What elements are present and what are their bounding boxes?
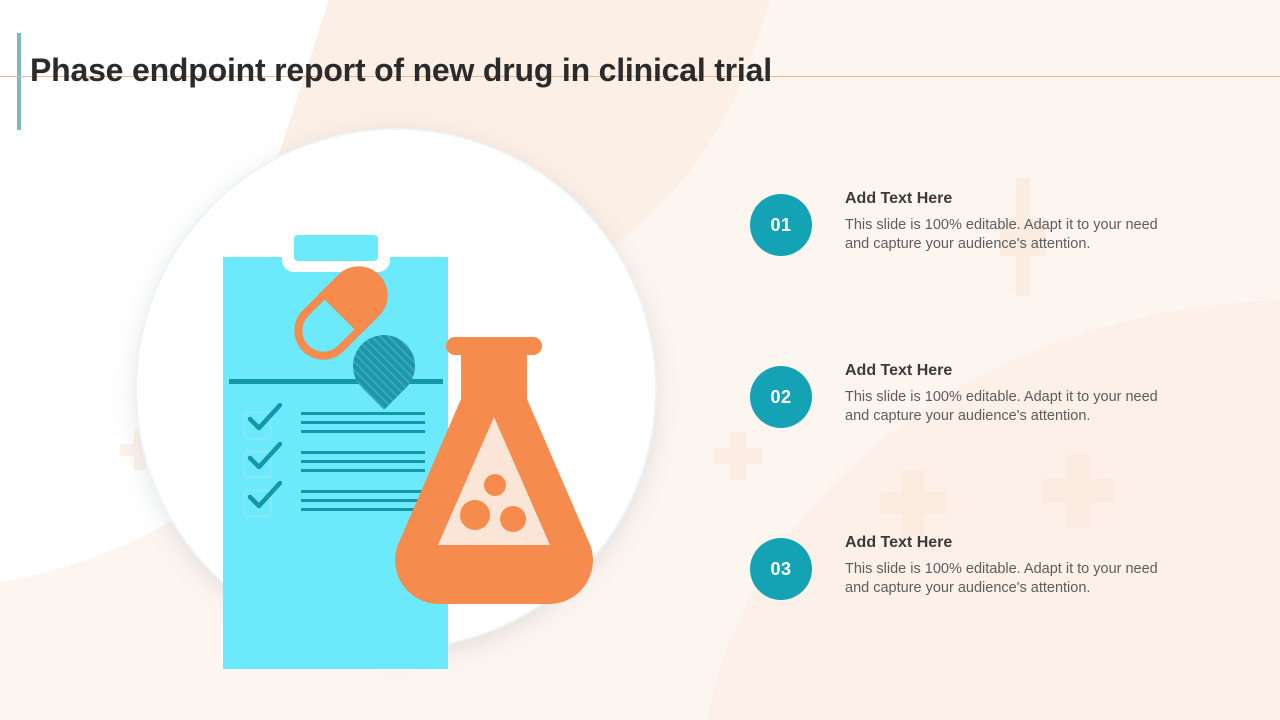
clipboard-clip-tab xyxy=(294,235,378,261)
list-item[interactable]: 02 Add Text Here This slide is 100% edit… xyxy=(750,354,1250,526)
check-mark-icon xyxy=(248,481,282,511)
list-item-text: Add Text Here This slide is 100% editabl… xyxy=(845,190,1175,254)
illustration-artwork xyxy=(137,130,655,648)
list-item-body: This slide is 100% editable. Adapt it to… xyxy=(845,388,1175,426)
page-title: Phase endpoint report of new drug in cli… xyxy=(30,52,772,89)
list-item[interactable]: 01 Add Text Here This slide is 100% edit… xyxy=(750,182,1250,354)
erlenmeyer-flask-icon xyxy=(389,333,599,608)
illustration xyxy=(137,130,655,648)
list-item-text: Add Text Here This slide is 100% editabl… xyxy=(845,534,1175,598)
list-item-number-badge: 01 xyxy=(750,194,812,256)
content-list: 01 Add Text Here This slide is 100% edit… xyxy=(750,182,1250,698)
list-item[interactable]: 03 Add Text Here This slide is 100% edit… xyxy=(750,526,1250,698)
check-mark-icon xyxy=(248,442,282,472)
check-mark-icon xyxy=(248,403,282,433)
list-item-number-badge: 03 xyxy=(750,538,812,600)
list-item-heading: Add Text Here xyxy=(845,362,1175,380)
title-accent-bar xyxy=(17,33,21,130)
slide-canvas: Phase endpoint report of new drug in cli… xyxy=(0,0,1280,720)
list-item-heading: Add Text Here xyxy=(845,534,1175,552)
list-item-body: This slide is 100% editable. Adapt it to… xyxy=(845,216,1175,254)
list-item-heading: Add Text Here xyxy=(845,190,1175,208)
list-item-text: Add Text Here This slide is 100% editabl… xyxy=(845,362,1175,426)
list-item-body: This slide is 100% editable. Adapt it to… xyxy=(845,560,1175,598)
list-item-number-badge: 02 xyxy=(750,366,812,428)
